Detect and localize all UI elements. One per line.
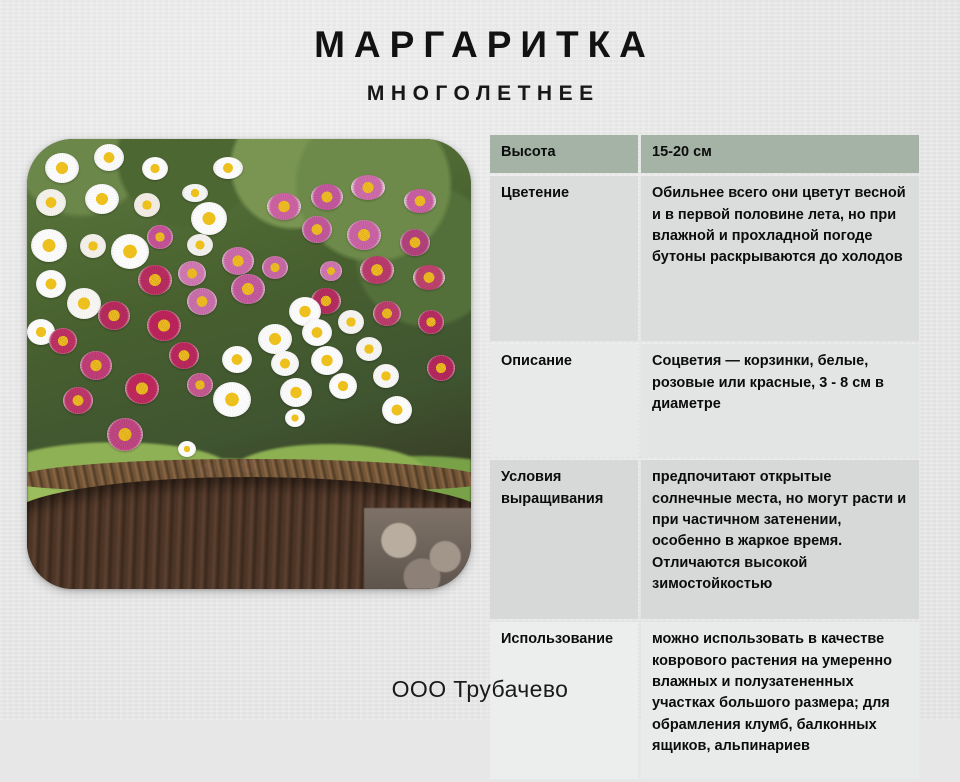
- flower-photo: [27, 139, 471, 589]
- gravel-ground: [364, 508, 471, 589]
- page-title: МАРГАРИТКА: [0, 26, 960, 65]
- table-row: Высота 15-20 см: [490, 135, 919, 173]
- table-row: Условия выращивания предпочитают открыты…: [490, 460, 919, 619]
- slide: МАРГАРИТКА МНОГОЛЕТНЕЕ: [0, 0, 960, 720]
- row-value: Обильнее всего они цветут весной и в пер…: [641, 176, 919, 341]
- row-label: Высота: [490, 135, 638, 173]
- row-value: 15-20 см: [641, 135, 919, 173]
- row-label: Цветение: [490, 176, 638, 341]
- page-subtitle: МНОГОЛЕТНЕЕ: [0, 82, 960, 106]
- table-row: Цветение Обильнее всего они цветут весно…: [490, 176, 919, 341]
- table-row: Описание Соцветия — корзинки, белые, роз…: [490, 344, 919, 457]
- row-label: Условия выращивания: [490, 460, 638, 619]
- row-value: Соцветия — корзинки, белые, розовые или …: [641, 344, 919, 457]
- row-value: предпочитают открытые солнечные места, н…: [641, 460, 919, 619]
- row-label: Описание: [490, 344, 638, 457]
- footer-company: ООО Трубачево: [0, 676, 960, 703]
- flower-photo-canvas: [27, 139, 471, 589]
